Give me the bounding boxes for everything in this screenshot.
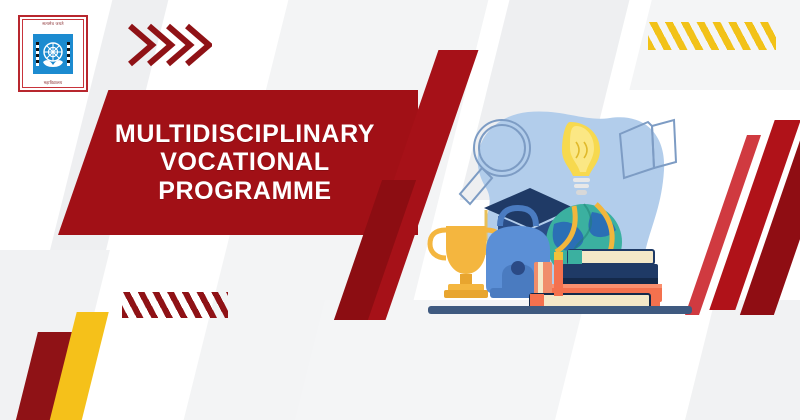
university-logo: सत्यमेव जयते महाविद्यालय xyxy=(18,15,88,92)
logo-bottom-text: महाविद्यालय xyxy=(44,81,63,85)
desk-base xyxy=(428,306,692,314)
background-band xyxy=(275,300,585,420)
education-illustration xyxy=(424,92,696,314)
logo-medallion-icon xyxy=(33,34,73,74)
title-line-2: VOCATIONAL xyxy=(115,148,375,177)
background-band xyxy=(665,300,800,420)
logo-inner-frame: सत्यमेव जयते महाविद्यालय xyxy=(22,19,84,88)
title-banner: MULTIDISCIPLINARY VOCATIONAL PROGRAMME xyxy=(58,90,418,235)
title-line-3: PROGRAMME xyxy=(115,177,375,206)
logo-lotus-icon xyxy=(39,40,67,68)
page-title: MULTIDISCIPLINARY VOCATIONAL PROGRAMME xyxy=(101,120,375,206)
logo-top-text: सत्यमेव जयते xyxy=(42,22,63,26)
logo-wave-right xyxy=(67,42,70,66)
pencil-icon xyxy=(554,252,563,296)
promo-banner: सत्यमेव जयते महाविद्यालय xyxy=(0,0,800,420)
red-diagonal-stripes-icon xyxy=(122,292,228,318)
title-line-1: MULTIDISCIPLINARY xyxy=(115,120,375,149)
gold-diagonal-stripes-icon xyxy=(648,22,776,50)
chevron-arrows-icon xyxy=(126,20,212,70)
logo-wave-left xyxy=(36,42,39,66)
